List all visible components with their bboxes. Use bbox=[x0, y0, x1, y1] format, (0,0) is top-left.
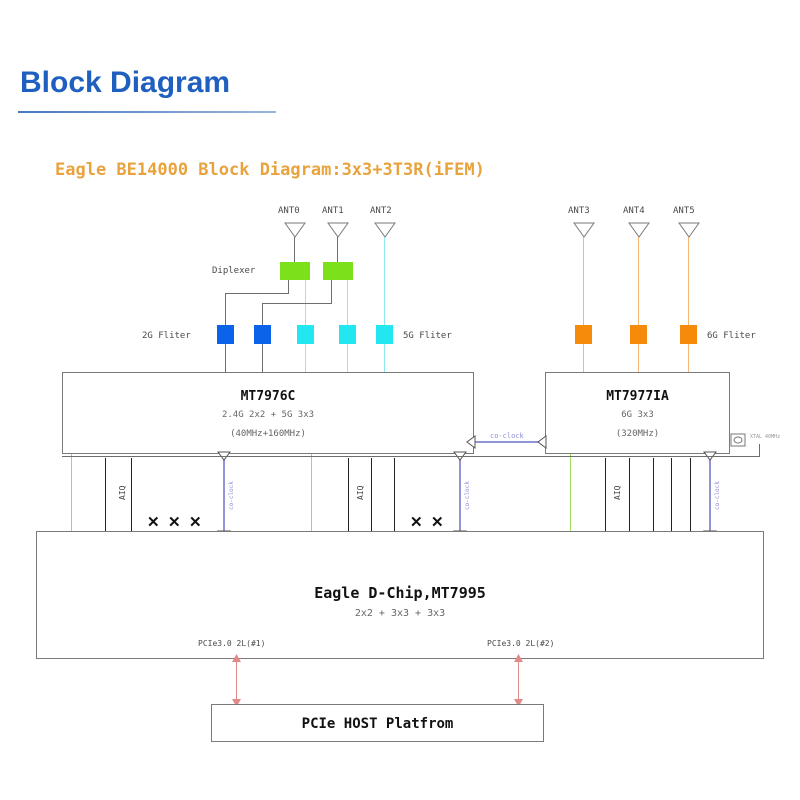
filter-5g-2 bbox=[376, 325, 393, 344]
phy0-co-clock-label: co-clock bbox=[228, 481, 235, 510]
filter-5g-2-drop bbox=[384, 344, 385, 372]
filter-6g-2 bbox=[680, 325, 697, 344]
antenna-label-ant5: ANT5 bbox=[673, 206, 695, 216]
filter-6g-0 bbox=[575, 325, 592, 344]
chip-mt7976c-line2: (40MHz+160MHz) bbox=[63, 429, 473, 439]
pcie-link1-label: PCIe3.0 2L(#1) bbox=[198, 639, 265, 648]
right-rail-riser bbox=[759, 444, 760, 457]
host-platform-name: PCIe HOST Platfrom bbox=[212, 716, 543, 732]
filter-6g-0-drop bbox=[583, 344, 584, 372]
phy0-lane-x-2: ✕ bbox=[147, 513, 160, 531]
phy2-co-clock-label: co-clock bbox=[714, 481, 721, 510]
dip0-2g-seg-v1 bbox=[288, 280, 289, 294]
antenna-ant4-feed bbox=[638, 237, 639, 325]
filter-5g-1-drop bbox=[347, 344, 348, 372]
phy2-lane-1 bbox=[629, 458, 630, 534]
pcie-link2-arrow-up bbox=[513, 654, 524, 663]
filter-5g-0 bbox=[297, 325, 314, 344]
co-clock-link bbox=[474, 441, 545, 443]
co-clock-arrow-left bbox=[466, 435, 476, 449]
chip-mt7977ia-line2: (320MHz) bbox=[546, 429, 729, 439]
chip-mt7976c-name: MT7976C bbox=[63, 389, 473, 404]
phy1-lane-1 bbox=[371, 458, 372, 534]
phy2-lane-2 bbox=[653, 458, 654, 534]
dip1-2g-seg-h bbox=[262, 303, 332, 304]
filter-2g-1-drop bbox=[262, 344, 263, 372]
phy2-co-clock-line bbox=[709, 458, 711, 534]
chip-mt7976c: MT7976C 2.4G 2x2 + 5G 3x3 (40MHz+160MHz) bbox=[62, 372, 474, 454]
phy0-aiq-label: AIQ bbox=[118, 486, 127, 500]
phy2-aiq-line bbox=[570, 454, 571, 538]
chip-mt7977ia-name: MT7977IA bbox=[546, 389, 729, 404]
slide-canvas: Block Diagram Eagle BE14000 Block Diagra… bbox=[0, 0, 800, 800]
antenna-ant5-icon bbox=[678, 222, 700, 238]
dip1-2g-seg-v1 bbox=[331, 280, 332, 304]
filter-6g-1-drop bbox=[638, 344, 639, 372]
pcie-link1-arrow-up bbox=[231, 654, 242, 663]
title-divider bbox=[18, 111, 276, 113]
phy2-lane-3 bbox=[671, 458, 672, 534]
filter-6g-label: 6G Fliter bbox=[707, 331, 756, 341]
dip0-2g-seg-h bbox=[225, 293, 289, 294]
phy0-lane-0 bbox=[105, 458, 106, 534]
phy0-lane-x-3: ✕ bbox=[168, 513, 181, 531]
phy1-lane-0 bbox=[348, 458, 349, 534]
filter-6g-1 bbox=[630, 325, 647, 344]
dip0-2g-seg-v2 bbox=[225, 293, 226, 325]
filter-2g-0-drop bbox=[225, 344, 226, 372]
mt7976c-bottom-rail bbox=[62, 456, 474, 457]
phy1-aiq-line bbox=[311, 454, 312, 538]
antenna-label-ant0: ANT0 bbox=[278, 206, 300, 216]
antenna-ant0-feed bbox=[294, 237, 295, 263]
phy1-co-clock-label: co-clock bbox=[464, 481, 471, 510]
right-rail-tail bbox=[730, 456, 760, 457]
mt7977ia-bottom-rail bbox=[545, 456, 730, 457]
dip1-2g-seg-v2 bbox=[262, 303, 263, 325]
phy1-lane-x-3: ✕ bbox=[410, 513, 423, 531]
phy1-aiq-label: AIQ bbox=[356, 486, 365, 500]
antenna-ant1-feed bbox=[337, 237, 338, 263]
antenna-label-ant3: ANT3 bbox=[568, 206, 590, 216]
chip-dchip-line1: 2x2 + 3x3 + 3x3 bbox=[37, 608, 763, 619]
filter-2g-1 bbox=[254, 325, 271, 344]
antenna-ant5-feed bbox=[688, 237, 689, 325]
page-title: Block Diagram bbox=[20, 66, 230, 100]
chip-dchip-name: Eagle D-Chip,MT7995 bbox=[37, 584, 763, 602]
phy0-lane-x-4: ✕ bbox=[189, 513, 202, 531]
antenna-ant3-feed bbox=[583, 237, 584, 325]
inter-chip-rail bbox=[474, 456, 545, 457]
filter-6g-2-drop bbox=[688, 344, 689, 372]
phy2-lane-0 bbox=[605, 458, 606, 534]
xtal-crystal-icon bbox=[730, 432, 750, 448]
co-clock-arrow-right bbox=[537, 435, 547, 449]
antenna-label-ant4: ANT4 bbox=[623, 206, 645, 216]
chip-mt7977ia-line1: 6G 3x3 bbox=[546, 410, 729, 420]
diplexer-ant1 bbox=[323, 262, 353, 280]
phy0-co-clock-line bbox=[223, 458, 225, 534]
phy1-lane-x-4: ✕ bbox=[431, 513, 444, 531]
antenna-ant2-icon bbox=[374, 222, 396, 238]
chip-dchip: Eagle D-Chip,MT7995 2x2 + 3x3 + 3x3 bbox=[36, 531, 764, 659]
diplexer-ant0 bbox=[280, 262, 310, 280]
antenna-label-ant2: ANT2 bbox=[370, 206, 392, 216]
diplexer-label: Diplexer bbox=[212, 266, 255, 276]
chip-mt7976c-line1: 2.4G 2x2 + 5G 3x3 bbox=[63, 410, 473, 420]
phy2-lane-4 bbox=[690, 458, 691, 534]
phy1-co-clock-line bbox=[459, 458, 461, 534]
phy1-lane-2 bbox=[394, 458, 395, 534]
phy2-aiq-label: AIQ bbox=[613, 486, 622, 500]
dip1-5g-feed bbox=[347, 280, 348, 325]
antenna-ant2-feed bbox=[384, 237, 385, 325]
filter-5g-label: 5G Fliter bbox=[403, 331, 452, 341]
phy0-aiq-line bbox=[71, 454, 72, 538]
filter-5g-1 bbox=[339, 325, 356, 344]
host-platform-box: PCIe HOST Platfrom bbox=[211, 704, 544, 742]
antenna-ant1-icon bbox=[327, 222, 349, 238]
antenna-ant4-icon bbox=[628, 222, 650, 238]
xtal-label: XTAL 40MHz bbox=[750, 434, 780, 440]
chip-mt7977ia: MT7977IA 6G 3x3 (320MHz) bbox=[545, 372, 730, 454]
filter-5g-0-drop bbox=[305, 344, 306, 372]
antenna-ant3-icon bbox=[573, 222, 595, 238]
diagram-subtitle: Eagle BE14000 Block Diagram:3x3+3T3R(iFE… bbox=[55, 160, 485, 180]
co-clock-link-label: co-clock bbox=[490, 432, 524, 440]
pcie-link2-label: PCIe3.0 2L(#2) bbox=[487, 639, 554, 648]
antenna-ant0-icon bbox=[284, 222, 306, 238]
filter-2g-label: 2G Fliter bbox=[142, 331, 191, 341]
phy0-lane-1 bbox=[131, 458, 132, 534]
antenna-label-ant1: ANT1 bbox=[322, 206, 344, 216]
filter-2g-0 bbox=[217, 325, 234, 344]
